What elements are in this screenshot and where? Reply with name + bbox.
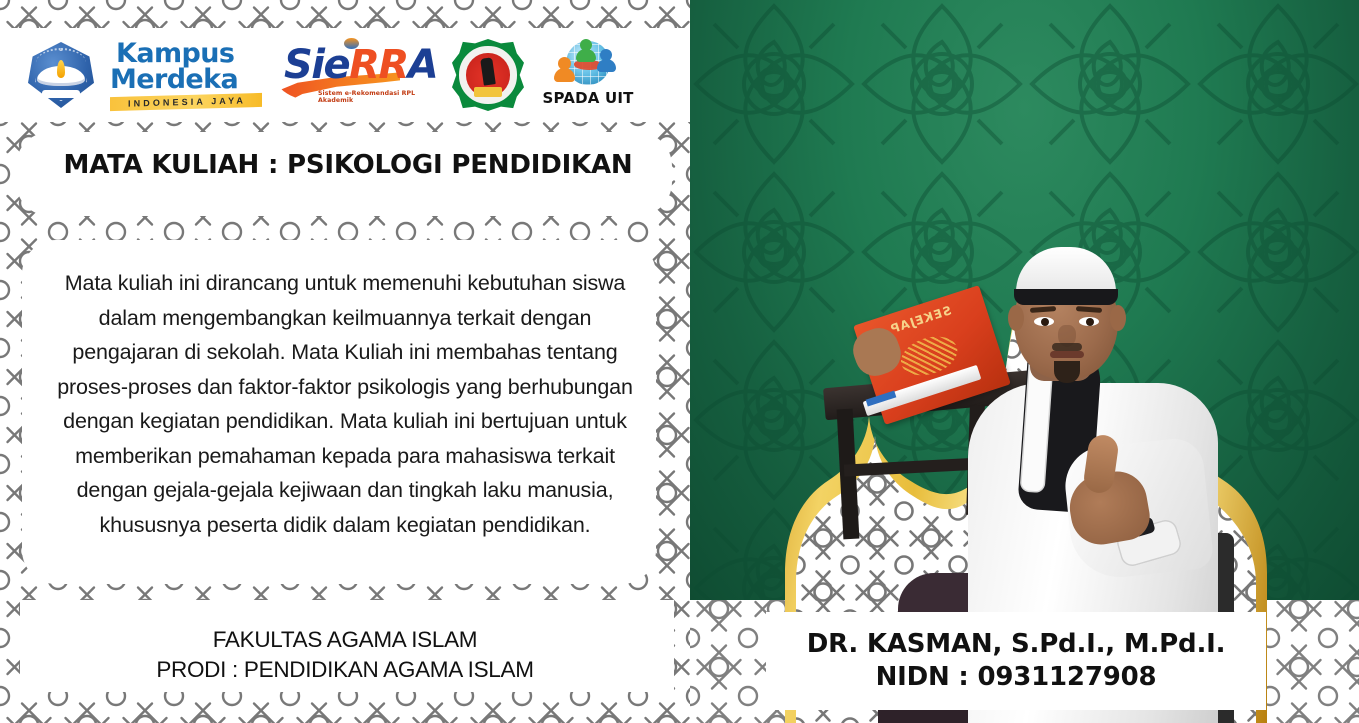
sierra-tagline: Sistem e-Rekomendasi RPL Akademik [318,90,436,104]
lecturer-name: DR. KASMAN, S.Pd.I., M.Pd.I. [807,628,1226,661]
ear-left [1008,305,1024,331]
study-program-name: PRODI : PENDIDIKAN AGAMA ISLAM [0,655,690,685]
left-info-panel: Kampus Merdeka INDONESIA JAYA SieRRA Sis… [0,0,690,723]
person-blue-body-icon [597,59,616,72]
spada-uit-label: SPADA UIT [540,89,636,107]
sierra-wordmark: SieRRA [284,42,437,88]
lecturer-name-banner: DR. KASMAN, S.Pd.I., M.Pd.I. NIDN : 0931… [766,612,1266,710]
flame-icon [57,60,65,77]
faculty-block: FAKULTAS AGAMA ISLAM PRODI : PENDIDIKAN … [0,625,690,685]
kampus-merdeka-line2: Merdeka [110,67,262,92]
desk-rail [844,457,984,476]
goatee-shape [1054,361,1080,383]
person-orange-body-icon [554,68,575,82]
sierra-logo-icon: SieRRA Sistem e-Rekomendasi RPL Akademik [278,38,436,112]
course-description: Mata kuliah ini dirancang untuk memenuhi… [52,266,638,542]
kampus-merdeka-ribbon: INDONESIA JAYA [110,93,262,111]
course-title: MATA KULIAH : PSIKOLOGI PENDIDIKAN [0,150,690,180]
faculty-name: FAKULTAS AGAMA ISLAM [0,625,690,655]
mouth-shape [1050,351,1084,358]
moustache-shape [1052,343,1082,351]
kampus-merdeka-line1: Kampus [116,41,262,66]
pupil-right [1086,318,1094,326]
kampus-merdeka-logo-icon: Kampus Merdeka INDONESIA JAYA [110,39,262,111]
spada-uit-logo-icon: SPADA UIT [540,37,636,113]
ear-right [1110,305,1126,331]
lecturer-nidn: NIDN : 0931127908 [876,661,1157,694]
pupil-left [1041,318,1049,326]
universitas-indonesia-timur-seal-icon [452,39,524,111]
person-green-body-icon [576,49,596,62]
partner-logos-row: Kampus Merdeka INDONESIA JAYA SieRRA Sis… [0,28,690,122]
course-poster: Kampus Merdeka INDONESIA JAYA SieRRA Sis… [0,0,1359,723]
kufi-cap-band [1014,289,1118,305]
tut-wuri-handayani-logo-icon [28,42,94,108]
book-icon [42,90,80,99]
right-portrait-panel: SEKEJAP [690,0,1359,723]
seal-base-shape [474,87,503,97]
